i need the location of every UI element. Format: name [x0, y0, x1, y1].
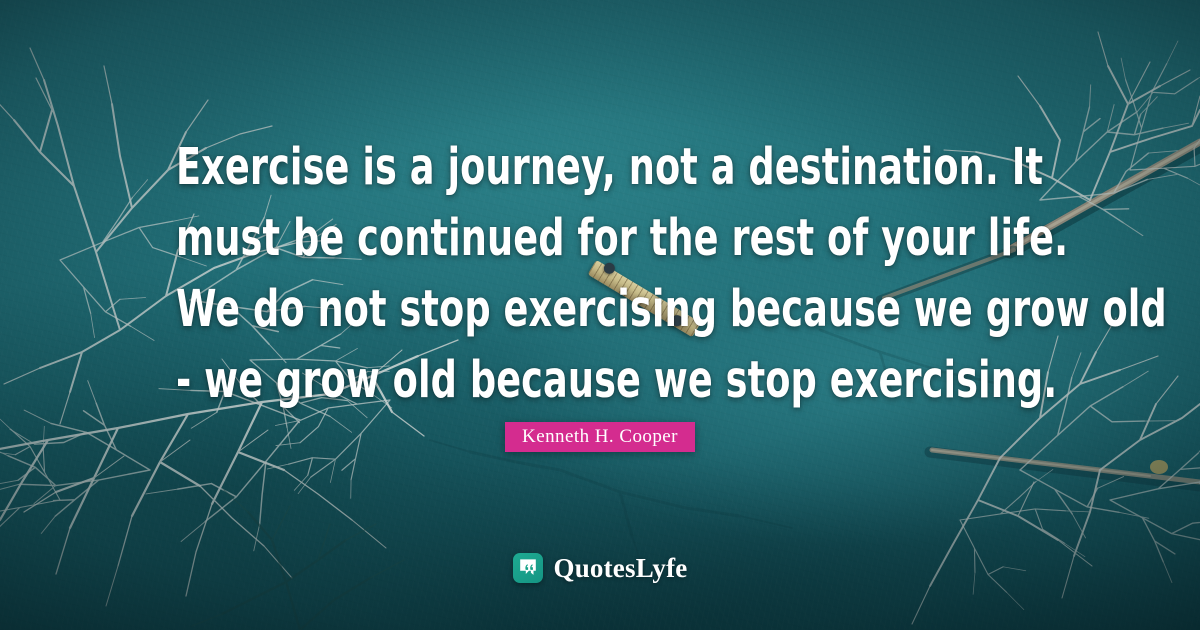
brand-logo[interactable]: QuotesLyfe	[0, 553, 1200, 583]
quote-line-1: Exercise is a journey, not a destination…	[176, 132, 1024, 203]
brand-name-text: QuotesLyfe	[554, 553, 688, 583]
quote-line-2: must be continued for the rest of your l…	[176, 203, 1024, 274]
quote-bubble-icon	[513, 553, 543, 583]
quote-line-4: - we grow old because we stop exercising…	[176, 345, 1024, 416]
author-attribution: Kenneth H. Cooper	[0, 422, 1200, 452]
card-content: Exercise is a journey, not a destination…	[0, 0, 1200, 630]
quote-card: Exercise is a journey, not a destination…	[0, 0, 1200, 630]
author-name-badge: Kenneth H. Cooper	[505, 422, 695, 452]
quote-text-block: Exercise is a journey, not a destination…	[0, 132, 1200, 416]
quote-line-3: We do not stop exercising because we gro…	[176, 274, 1024, 345]
